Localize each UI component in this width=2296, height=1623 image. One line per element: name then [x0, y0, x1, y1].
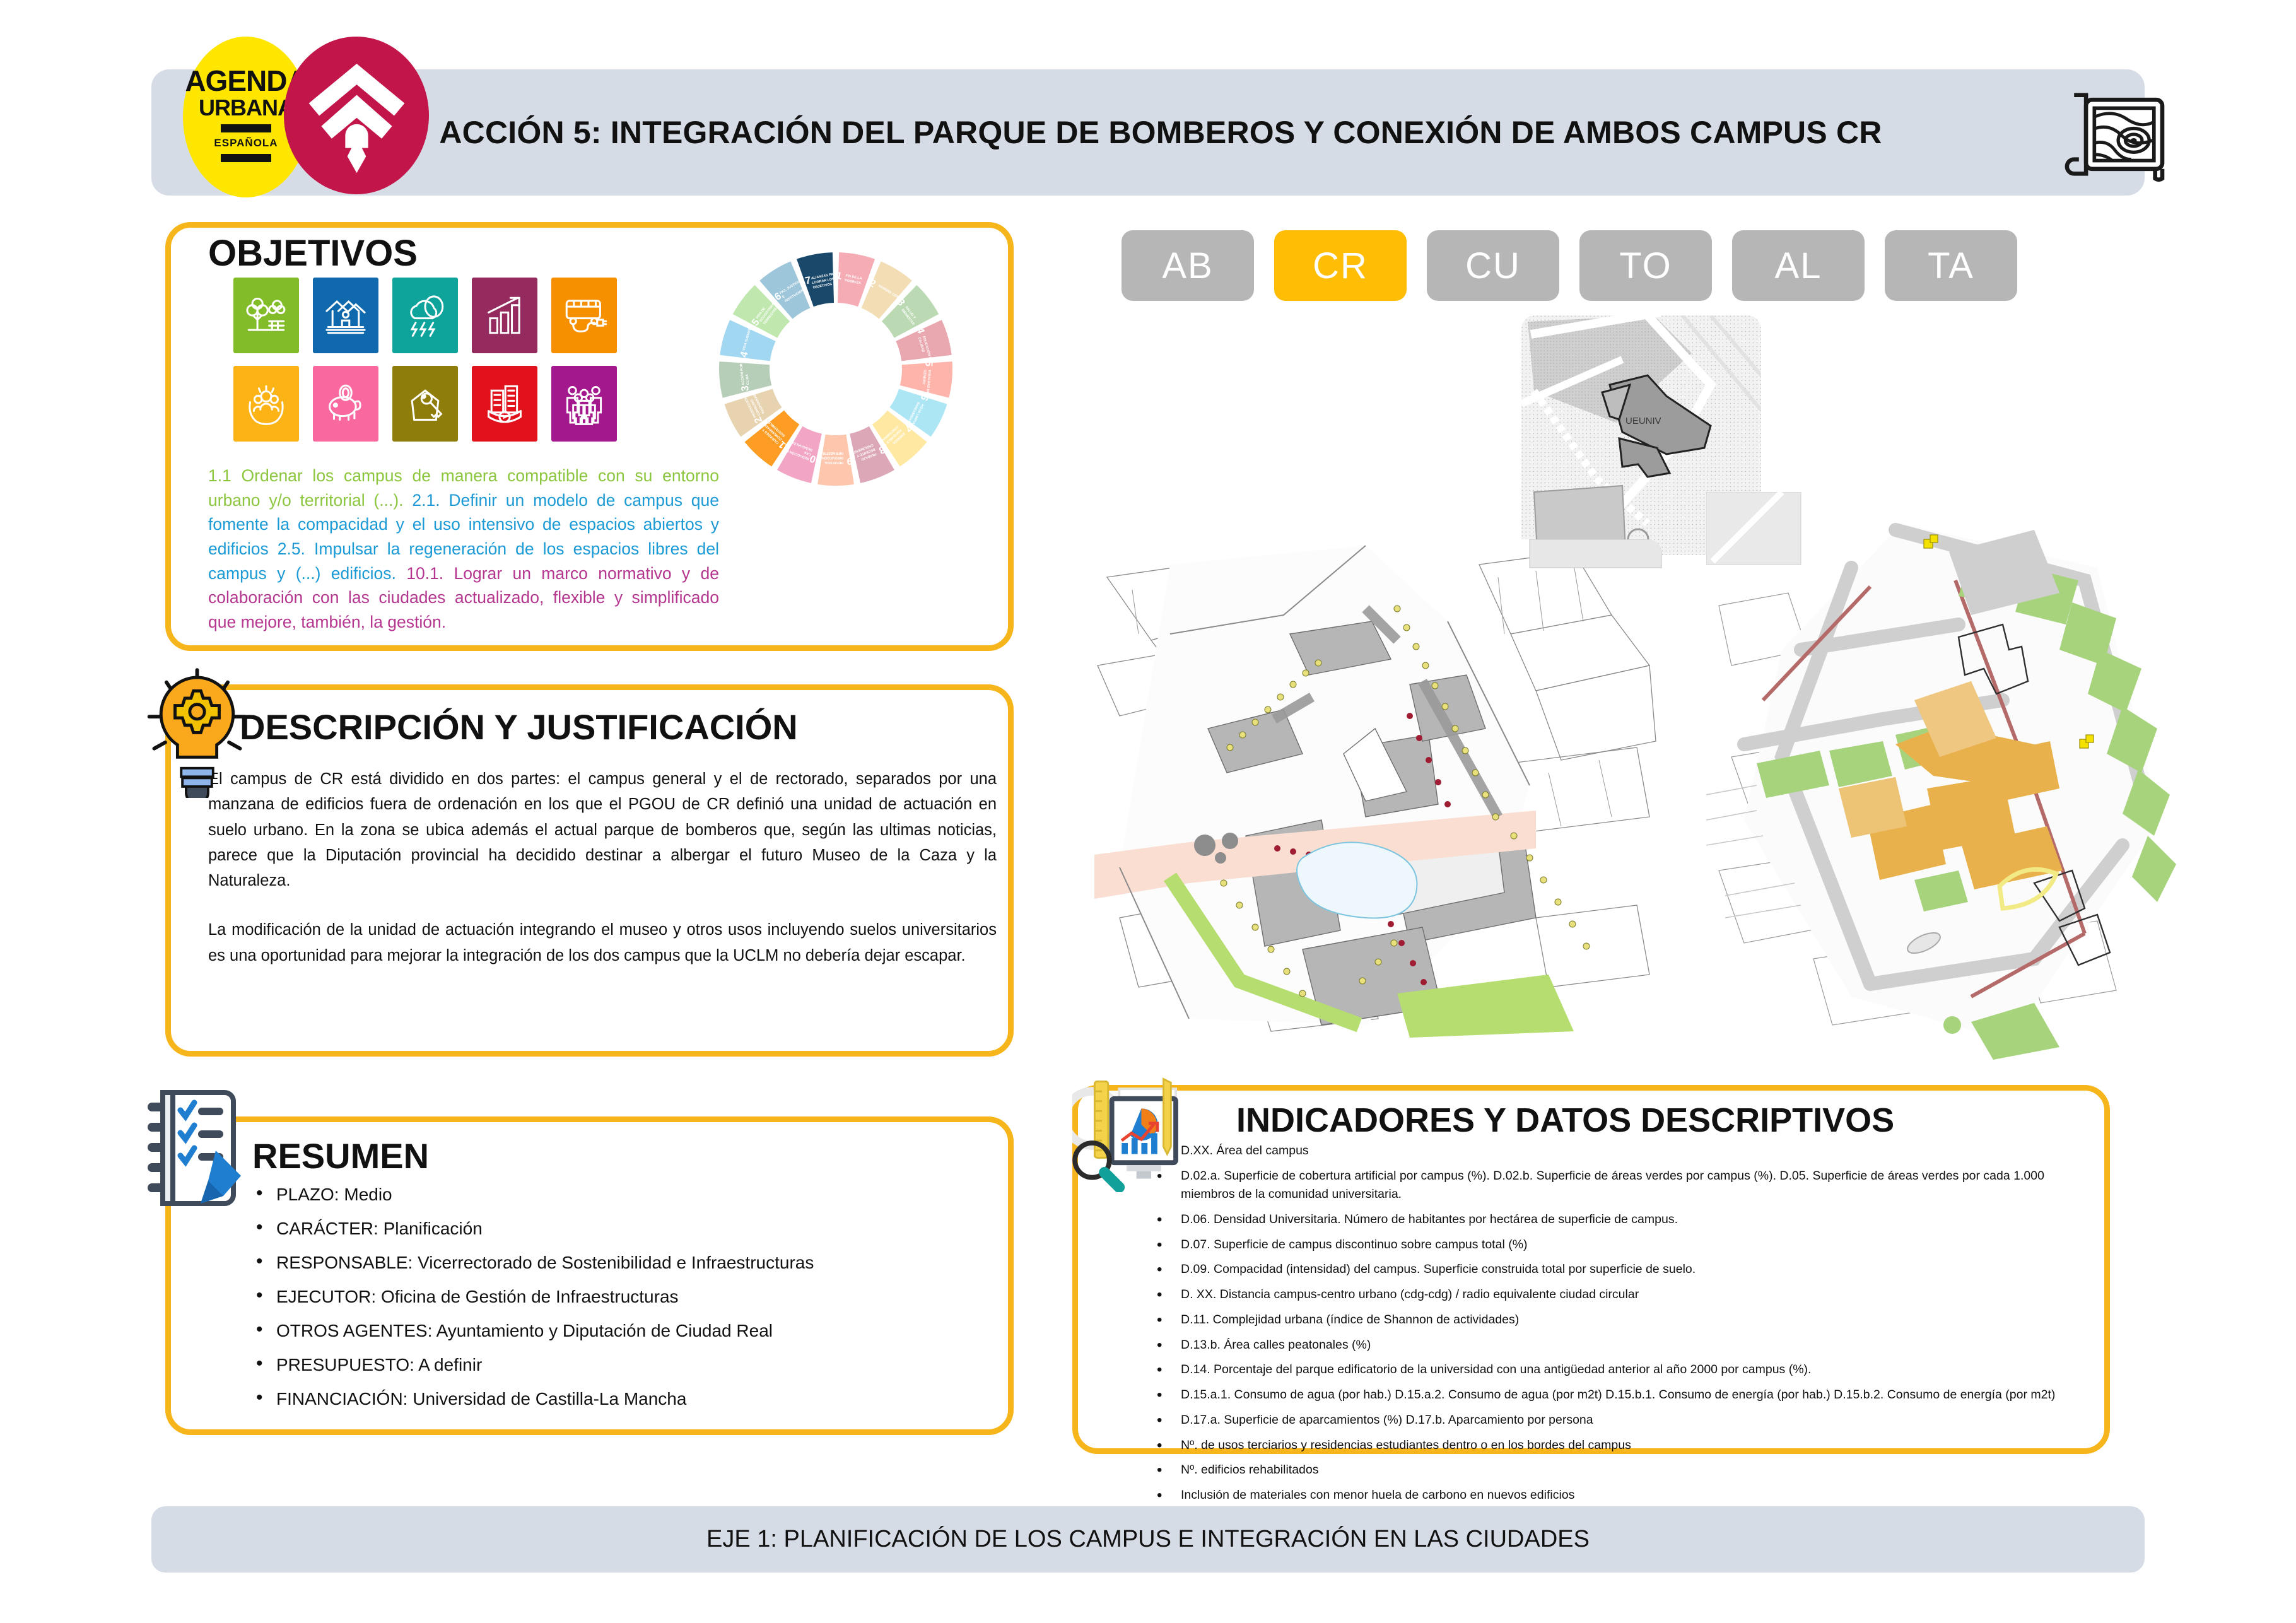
lightbulb-gear-icon [142, 662, 252, 798]
logo-bar-top [221, 124, 271, 132]
resumen-list: PLAZO: MedioCARÁCTER: PlanificaciónRESPO… [252, 1186, 978, 1424]
sdg-number-13: 13 [740, 385, 752, 397]
uclm-signal-logo [284, 37, 429, 194]
park-trees-icon [233, 278, 299, 353]
indicadores-title: INDICADORES Y DATOS DESCRIPTIVOS [1236, 1101, 1894, 1140]
resumen-item: PRESUPUESTO: A definir [252, 1356, 978, 1374]
campus-tab-to[interactable]: TO [1579, 230, 1712, 301]
resumen-item: RESPONSABLE: Vicerrectorado de Sostenibi… [252, 1254, 978, 1272]
resumen-item: FINANCIACIÓN: Universidad de Castilla-La… [252, 1390, 978, 1408]
campus-current-state-map[interactable] [1094, 539, 1662, 1038]
resumen-item: EJECUTOR: Oficina de Gestión de Infraest… [252, 1288, 978, 1306]
notepad-checklist-icon [145, 1085, 246, 1211]
campus-proposal-map[interactable] [1706, 492, 2217, 1060]
campus-tab-al[interactable]: AL [1732, 230, 1865, 301]
indicador-item: D. XX. Distancia campus-centro urbano (c… [1148, 1286, 2078, 1304]
footer-text: EJE 1: PLANIFICACIÓN DE LOS CAMPUS E INT… [151, 1506, 2145, 1573]
indicador-item: D.XX. Área del campus [1148, 1142, 2078, 1160]
descripcion-title: DESCRIPCIÓN Y JUSTIFICACIÓN [240, 706, 798, 747]
map-thumb-label: UEUNIV [1625, 416, 1661, 426]
logo-bar-bottom [221, 154, 271, 162]
objetivos-text: 1.1 Ordenar los campus de manera compati… [208, 464, 719, 635]
broadcast-tower-icon [305, 57, 409, 174]
campus-tab-cu[interactable]: CU [1427, 230, 1559, 301]
social-hands-icon [233, 366, 299, 442]
resumen-item: CARÁCTER: Planificación [252, 1220, 978, 1238]
campus-tab-ab[interactable]: AB [1122, 230, 1254, 301]
indicador-item: D.09. Compacidad (intensidad) del campus… [1148, 1260, 2078, 1279]
sdg-wheel: 1FIN DE LAPOBREZA2HAMBRE CERO3SALUD YBIE… [710, 243, 962, 495]
indicadores-list: D.XX. Área del campusD.02.a. Superficie … [1148, 1142, 2078, 1537]
indicador-item: D.06. Densidad Universitaria. Número de … [1148, 1210, 2078, 1229]
sdg-label-9: INDUSTRIA, [824, 460, 843, 464]
indicador-item: Nº. de usos terciarios y residencias est… [1148, 1436, 2078, 1455]
page-title: ACCIÓN 5: INTEGRACIÓN DEL PARQUE DE BOMB… [353, 69, 1968, 196]
campus-tab-cr[interactable]: CR [1274, 230, 1407, 301]
indicador-item: D.02.a. Superficie de cobertura artifici… [1148, 1167, 2078, 1204]
indicador-item: Inclusión de materiales con menor huela … [1148, 1486, 2078, 1504]
indicador-item: D.07. Superficie de campus discontinuo s… [1148, 1236, 2078, 1254]
descripcion-paragraph-1: La modificación de la unidad de actuació… [208, 917, 997, 968]
resumen-item: OTROS AGENTES: Ayuntamiento y Diputación… [252, 1322, 978, 1340]
logo-line-3: ESPAÑOLA [214, 137, 278, 149]
resumen-item: PLAZO: Medio [252, 1186, 978, 1204]
indicador-item: D.14. Porcentaje del parque edificatorio… [1148, 1361, 2078, 1379]
campus-tab-ta[interactable]: TA [1885, 230, 2017, 301]
aue-objective-icons [233, 278, 617, 442]
indicador-item: D.15.a.1. Consumo de agua (por hab.) D.1… [1148, 1386, 2078, 1404]
indicador-item: D.17.a. Superficie de aparcamientos (%) … [1148, 1411, 2078, 1429]
descripcion-paragraph-0: El campus de CR está dividido en dos par… [208, 766, 997, 893]
sdg-number-17: 17 [799, 275, 812, 288]
resumen-title: RESUMEN [252, 1135, 429, 1176]
descripcion-body: El campus de CR está dividido en dos par… [208, 766, 997, 968]
digital-city-icon [472, 366, 537, 442]
indicador-item: D.13.b. Área calles peatonales (%) [1148, 1336, 2078, 1354]
governance-people-icon [551, 366, 617, 442]
house-buildings-icon [313, 278, 378, 353]
growth-chart-icon [472, 278, 537, 353]
logo-line-2: URBANA [199, 95, 293, 120]
indicador-item: Nº. edificios rehabilitados [1148, 1461, 2078, 1479]
sdg-number-5: 5 [923, 360, 934, 367]
map-plan-icon [2059, 81, 2179, 188]
climate-storm-icon [392, 278, 458, 353]
objetivos-title: OBJETIVOS [208, 232, 418, 274]
piggy-bank-icon [313, 366, 378, 442]
chart-ruler-magnifier-icon [1072, 1069, 1208, 1192]
housing-keys-icon [392, 366, 458, 442]
sdg-number-9: 9 [846, 455, 852, 466]
campus-tabs: ABCRCUTOALTA [1122, 230, 2017, 301]
electric-bus-icon [551, 278, 617, 353]
indicador-item: D.11. Complejidad urbana (índice de Shan… [1148, 1311, 2078, 1329]
